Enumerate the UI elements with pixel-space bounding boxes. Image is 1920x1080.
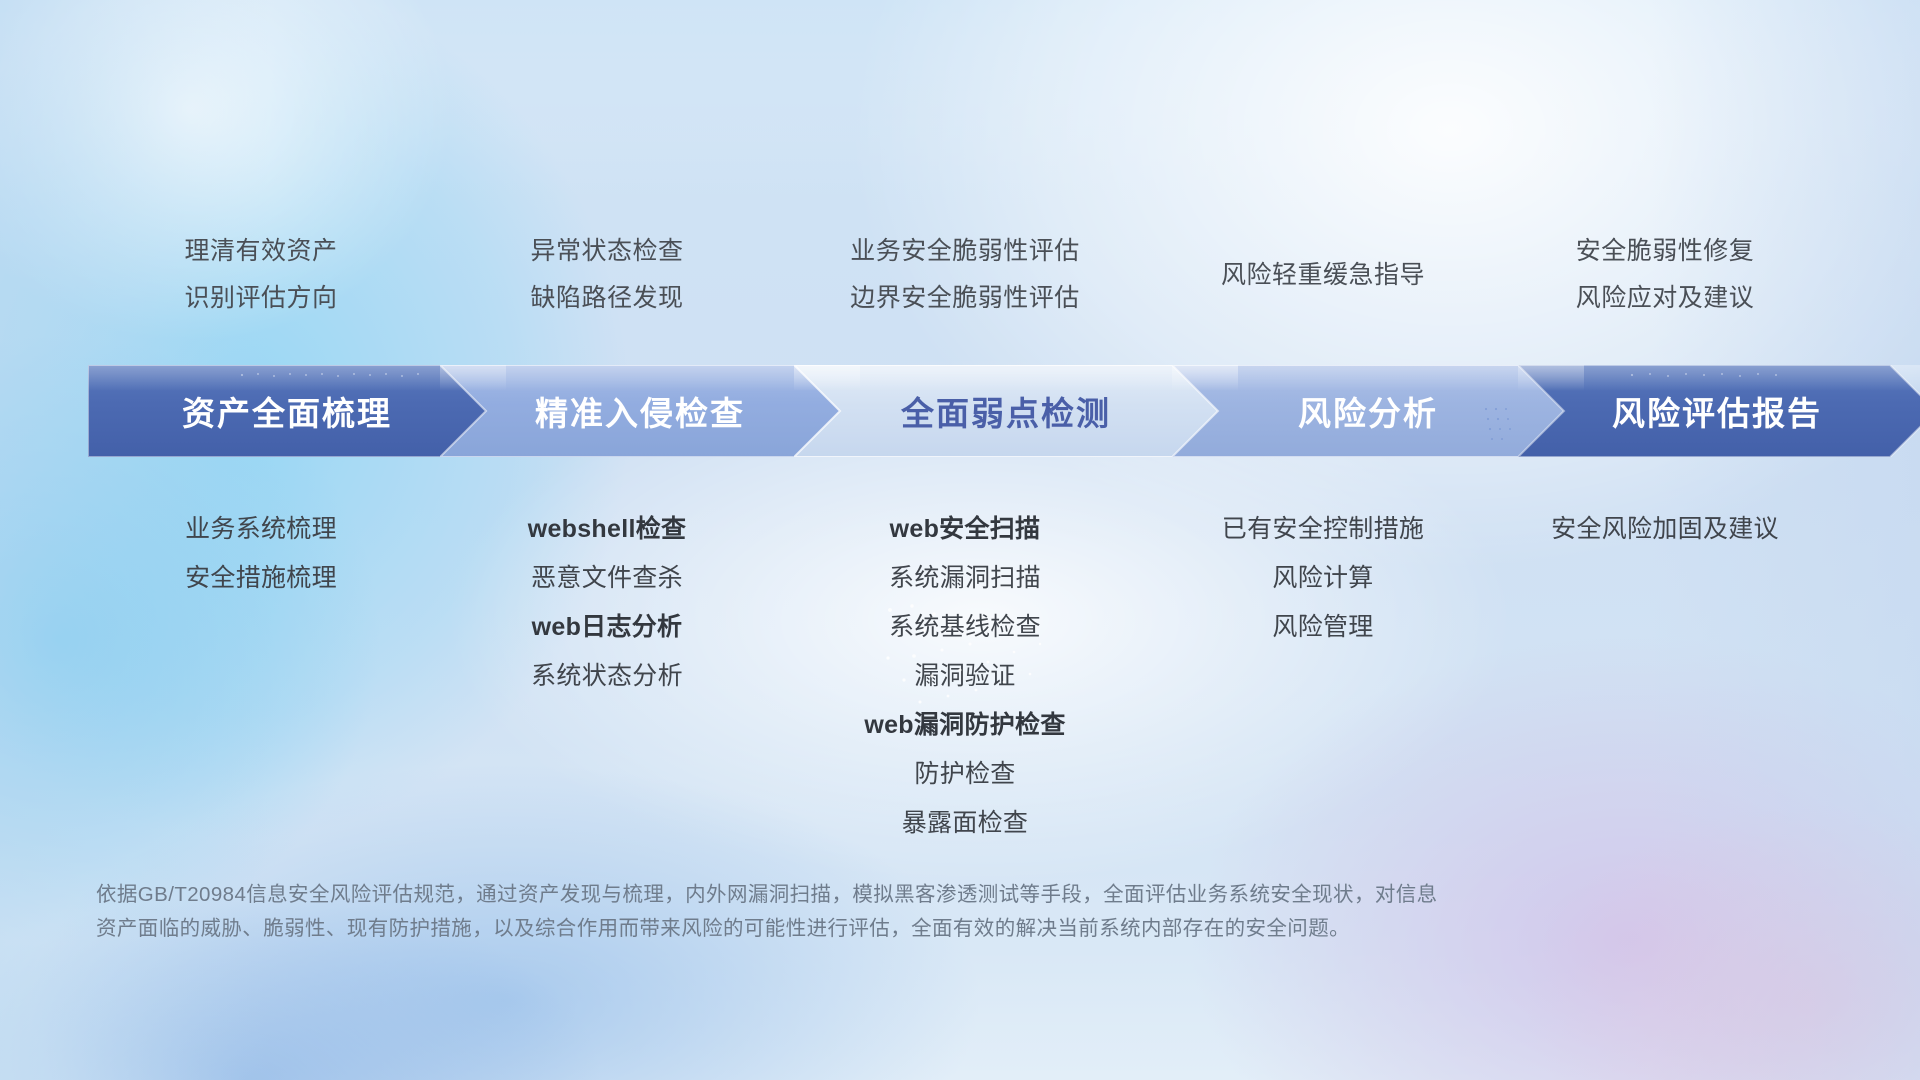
stage-bottom-item: 已有安全控制措施 (1150, 505, 1496, 554)
process-stage-band: 资产全面梳理 精准入侵检查 (88, 365, 1848, 457)
stage-bottom-item: 业务系统梳理 (88, 505, 434, 554)
stage-chevron-assessment-report[interactable]: 风险评估报告 (1518, 365, 1920, 457)
stage-bottom-item: 风险计算 (1150, 554, 1496, 603)
stage-bottom-items-assessment-report: 安全风险加固及建议 (1496, 505, 1834, 554)
stage-bottom-items-asset-combing: 业务系统梳理 安全措施梳理 (88, 505, 434, 603)
stage-bottom-item: 恶意文件查杀 (434, 554, 780, 603)
process-diagram: 资产全面梳理 精准入侵检查 (0, 0, 1920, 1080)
stage-label-weakness-detection: 全面弱点检测 (901, 387, 1111, 435)
stage-bottom-item: web日志分析 (434, 603, 780, 652)
stage-top-item: 风险应对及建议 (1496, 275, 1834, 322)
stage-bottom-item: 系统状态分析 (434, 652, 780, 701)
footer-line-1: 依据GB/T20984信息安全风险评估规范，通过资产发现与梳理，内外网漏洞扫描，… (96, 878, 1656, 912)
stage-top-item: 风险轻重缓急指导 (1150, 252, 1496, 299)
stage-label-assessment-report: 风险评估报告 (1612, 387, 1822, 435)
stage-top-items-weakness-detection: 业务安全脆弱性评估 边界安全脆弱性评估 (780, 228, 1150, 322)
footer-description: 依据GB/T20984信息安全风险评估规范，通过资产发现与梳理，内外网漏洞扫描，… (96, 878, 1656, 946)
stage-top-item: 安全脆弱性修复 (1496, 228, 1834, 275)
stage-bottom-item: 系统漏洞扫描 (780, 554, 1150, 603)
stage-top-item: 业务安全脆弱性评估 (780, 228, 1150, 275)
stage-bottom-item: web安全扫描 (780, 505, 1150, 554)
stage-bottom-item: 风险管理 (1150, 603, 1496, 652)
footer-line-2: 资产面临的威胁、脆弱性、现有防护措施，以及综合作用而带来风险的可能性进行评估，全… (96, 912, 1656, 946)
stage-top-items-risk-analysis: 风险轻重缓急指导 (1150, 252, 1496, 299)
stage-bottom-item: webshell检查 (434, 505, 780, 554)
stage-bottom-item: web漏洞防护检查 (780, 701, 1150, 750)
stage-top-item: 识别评估方向 (88, 275, 434, 322)
stage-top-items-assessment-report: 安全脆弱性修复 风险应对及建议 (1496, 228, 1834, 322)
stage-bottom-item: 漏洞验证 (780, 652, 1150, 701)
stage-top-items-intrusion-check: 异常状态检查 缺陷路径发现 (434, 228, 780, 322)
stage-label-asset-combing: 资产全面梳理 (182, 387, 392, 435)
stage-bottom-item: 防护检查 (780, 750, 1150, 799)
stage-top-item: 缺陷路径发现 (434, 275, 780, 322)
stage-bottom-item: 安全措施梳理 (88, 554, 434, 603)
stage-top-item: 理清有效资产 (88, 228, 434, 275)
stage-bottom-item: 安全风险加固及建议 (1496, 505, 1834, 554)
stage-label-intrusion-check: 精准入侵检查 (535, 387, 745, 435)
stage-top-item: 异常状态检查 (434, 228, 780, 275)
stage-bottom-item: 系统基线检查 (780, 603, 1150, 652)
stage-top-item: 边界安全脆弱性评估 (780, 275, 1150, 322)
stage-bottom-item: 暴露面检查 (780, 799, 1150, 848)
stage-bottom-items-risk-analysis: 已有安全控制措施 风险计算 风险管理 (1150, 505, 1496, 652)
stage-top-items-asset-combing: 理清有效资产 识别评估方向 (88, 228, 434, 322)
stage-bottom-items-weakness-detection: web安全扫描 系统漏洞扫描 系统基线检查 漏洞验证 web漏洞防护检查 防护检… (780, 505, 1150, 848)
stage-label-risk-analysis: 风险分析 (1298, 387, 1438, 435)
stage-bottom-items-intrusion-check: webshell检查 恶意文件查杀 web日志分析 系统状态分析 (434, 505, 780, 701)
